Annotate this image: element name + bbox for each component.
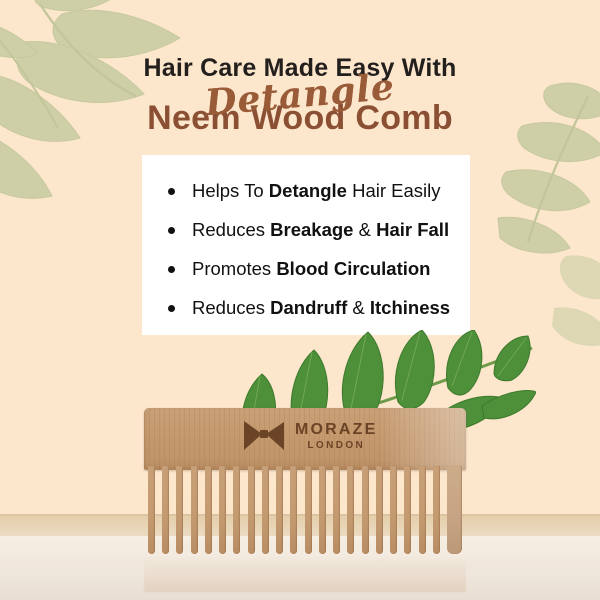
brand-logo: MORAZE LONDON bbox=[242, 419, 378, 453]
list-item: Reduces Breakage & Hair Fall bbox=[168, 212, 460, 248]
bullet-dot-icon bbox=[168, 266, 175, 273]
comb-tooth bbox=[262, 466, 269, 554]
comb-tooth bbox=[162, 466, 169, 554]
comb-teeth bbox=[144, 466, 466, 558]
comb-tooth bbox=[404, 466, 411, 554]
comb-tooth bbox=[248, 466, 255, 554]
comb-tooth bbox=[419, 466, 426, 554]
benefit-text: Reduces Dandruff & Itchiness bbox=[192, 299, 450, 318]
bullet-dot-icon bbox=[168, 188, 175, 195]
comb-tooth bbox=[305, 466, 312, 554]
comb-spine: MORAZE LONDON bbox=[144, 408, 466, 470]
comb-tooth bbox=[433, 466, 440, 554]
list-item: Promotes Blood Circulation bbox=[168, 251, 460, 287]
comb-tooth bbox=[319, 466, 326, 554]
brand-sub-text: LONDON bbox=[307, 440, 365, 451]
neem-wood-comb: MORAZE LONDON bbox=[144, 408, 466, 558]
headline-block: Hair Care Made Easy With Detangle Neem W… bbox=[0, 56, 600, 135]
benefit-text: Helps To Detangle Hair Easily bbox=[192, 182, 441, 201]
list-item: Helps To Detangle Hair Easily bbox=[168, 173, 460, 209]
comb-tooth bbox=[390, 466, 397, 554]
bullet-dot-icon bbox=[168, 227, 175, 234]
brand-sub: LONDON bbox=[295, 441, 378, 451]
brand-name: MORAZE bbox=[295, 422, 378, 438]
benefit-text: Promotes Blood Circulation bbox=[192, 260, 430, 279]
benefits-card: Helps To Detangle Hair Easily Reduces Br… bbox=[142, 155, 470, 335]
comb-tooth bbox=[219, 466, 226, 554]
comb-tooth bbox=[290, 466, 297, 554]
comb-tooth bbox=[362, 466, 369, 554]
benefit-text: Reduces Breakage & Hair Fall bbox=[192, 221, 449, 240]
comb-tooth bbox=[176, 466, 183, 554]
comb-tooth bbox=[376, 466, 383, 554]
comb-tooth bbox=[233, 466, 240, 554]
comb-tooth bbox=[276, 466, 283, 554]
comb-tooth bbox=[205, 466, 212, 554]
bullet-dot-icon bbox=[168, 305, 175, 312]
brand-logo-text: MORAZE LONDON bbox=[295, 422, 378, 451]
bowtie-icon bbox=[242, 419, 286, 453]
comb-highlight bbox=[378, 408, 466, 470]
comb-tooth bbox=[333, 466, 340, 554]
list-item: Reduces Dandruff & Itchiness bbox=[168, 290, 460, 326]
comb-tooth bbox=[347, 466, 354, 554]
benefits-list: Helps To Detangle Hair Easily Reduces Br… bbox=[168, 173, 460, 329]
comb-tooth bbox=[148, 466, 155, 554]
comb-reflection bbox=[144, 558, 466, 592]
comb-tooth bbox=[191, 466, 198, 554]
comb-tooth bbox=[447, 466, 462, 554]
advertisement-canvas: Hair Care Made Easy With Detangle Neem W… bbox=[0, 0, 600, 600]
background-leaf-right-lower bbox=[548, 250, 600, 360]
